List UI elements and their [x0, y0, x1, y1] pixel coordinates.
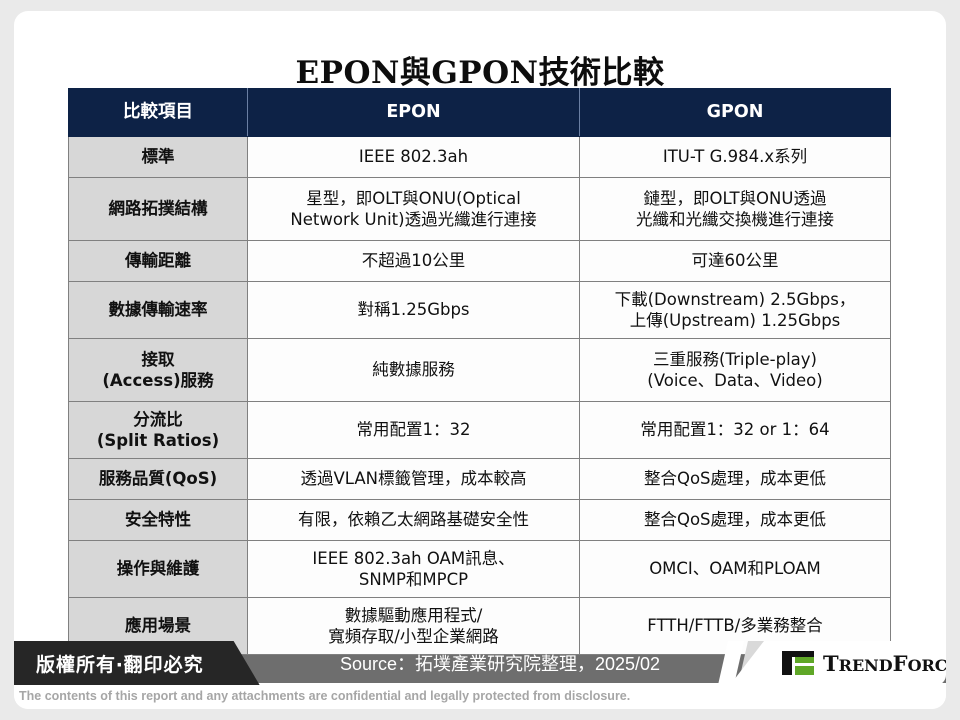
cell-gpon: 可達60公里 [580, 241, 891, 282]
table-row: 接取(Access)服務純數據服務三重服務(Triple-play)(Voice… [69, 339, 891, 402]
row-header-line: 操作與維護 [74, 558, 242, 579]
cell-line: 鏈型，即OLT與ONU透過 [585, 188, 885, 209]
cell-gpon: 下載(Downstream) 2.5Gbps，上傳(Upstream) 1.25… [580, 282, 891, 339]
table-header-row: 比較項目 EPON GPON [69, 89, 891, 137]
cell-line: 常用配置1：32 or 1：64 [585, 419, 885, 440]
copyright-banner: 版權所有‧翻印必究 [14, 641, 260, 685]
cell-gpon: OMCI、OAM和PLOAM [580, 541, 891, 598]
cell-line: 整合QoS處理，成本更低 [585, 468, 885, 489]
table-body: 標準IEEE 802.3ahITU-T G.984.x系列網路拓撲結構星型，即O… [69, 137, 891, 655]
cell-line: 純數據服務 [253, 359, 574, 380]
row-header-line: 接取 [74, 349, 242, 370]
row-header-line: 傳輸距離 [74, 250, 242, 271]
table-row: 安全特性有限，依賴乙太網路基礎安全性整合QoS處理，成本更低 [69, 500, 891, 541]
cell-line: 透過VLAN標籤管理，成本較高 [253, 468, 574, 489]
cell-line: 常用配置1：32 [253, 419, 574, 440]
cell-line: 星型，即OLT與ONU(Optical [253, 188, 574, 209]
cell-epon: 有限，依賴乙太網路基礎安全性 [248, 500, 580, 541]
column-header-gpon: GPON [580, 89, 891, 137]
cell-line: 整合QoS處理，成本更低 [585, 509, 885, 530]
table-row: 分流比(Split Ratios)常用配置1：32常用配置1：32 or 1：6… [69, 402, 891, 459]
cell-line: 三重服務(Triple-play) [585, 349, 885, 370]
page-title: EPON與GPON技術比較 [14, 47, 946, 92]
slide-canvas: 拓墣 TOPOLOGY RESEARCH INSTITUTE EPON與GPON… [14, 11, 946, 709]
cell-line: IEEE 802.3ah OAM訊息、 [253, 548, 574, 569]
table-row: 操作與維護IEEE 802.3ah OAM訊息、SNMP和MPCPOMCI、OA… [69, 541, 891, 598]
row-header-cell: 網路拓撲結構 [69, 178, 248, 241]
cell-gpon: ITU-T G.984.x系列 [580, 137, 891, 178]
row-header-line: (Split Ratios) [74, 430, 242, 451]
cell-line: SNMP和MPCP [253, 569, 574, 590]
cell-epon: IEEE 802.3ah OAM訊息、SNMP和MPCP [248, 541, 580, 598]
row-header-line: 數據傳輸速率 [74, 299, 242, 320]
trendforce-logo-mark-icon [782, 651, 814, 675]
cell-line: 對稱1.25Gbps [253, 299, 574, 320]
cell-gpon: 鏈型，即OLT與ONU透過光纖和光纖交換機進行連接 [580, 178, 891, 241]
logo-letters-orce: ORCE [908, 656, 946, 675]
trendforce-logo-text: TRENDFORCE [823, 651, 946, 676]
cell-gpon: 三重服務(Triple-play)(Voice、Data、Video) [580, 339, 891, 402]
cell-line: 下載(Downstream) 2.5Gbps， [585, 289, 885, 310]
cell-line: (Voice、Data、Video) [585, 370, 885, 391]
cell-epon: 常用配置1：32 [248, 402, 580, 459]
row-header-line: 標準 [74, 146, 242, 167]
cell-epon: 純數據服務 [248, 339, 580, 402]
copyright-banner-label: 版權所有‧翻印必究 [36, 650, 204, 677]
row-header-cell: 分流比(Split Ratios) [69, 402, 248, 459]
row-header-cell: 安全特性 [69, 500, 248, 541]
column-header-epon: EPON [248, 89, 580, 137]
cell-epon: 透過VLAN標籤管理，成本較高 [248, 459, 580, 500]
cell-line: Network Unit)透過光纖進行連接 [253, 209, 574, 230]
row-header-cell: 數據傳輸速率 [69, 282, 248, 339]
cell-epon: 不超過10公里 [248, 241, 580, 282]
cell-line: OMCI、OAM和PLOAM [585, 558, 885, 579]
cell-epon: 對稱1.25Gbps [248, 282, 580, 339]
cell-gpon: 常用配置1：32 or 1：64 [580, 402, 891, 459]
row-header-cell: 服務品質(QoS) [69, 459, 248, 500]
cell-line: 有限，依賴乙太網路基礎安全性 [253, 509, 574, 530]
table-row: 傳輸距離不超過10公里可達60公里 [69, 241, 891, 282]
row-header-cell: 標準 [69, 137, 248, 178]
row-header-line: 分流比 [74, 409, 242, 430]
comparison-table: 比較項目 EPON GPON 標準IEEE 802.3ahITU-T G.984… [68, 88, 891, 655]
table-row: 數據傳輸速率對稱1.25Gbps下載(Downstream) 2.5Gbps，上… [69, 282, 891, 339]
row-header-line: 網路拓撲結構 [74, 198, 242, 219]
table-header: 比較項目 EPON GPON [69, 89, 891, 137]
table-row: 標準IEEE 802.3ahITU-T G.984.x系列 [69, 137, 891, 178]
row-header-cell: 傳輸距離 [69, 241, 248, 282]
row-header-cell: 操作與維護 [69, 541, 248, 598]
cell-line: IEEE 802.3ah [253, 146, 574, 167]
column-header-criteria: 比較項目 [69, 89, 248, 137]
row-header-line: 應用場景 [74, 615, 242, 636]
logo-letter-t: T [823, 651, 839, 676]
trendforce-logo: TRENDFORCE [730, 641, 946, 685]
cell-gpon: 整合QoS處理，成本更低 [580, 500, 891, 541]
logo-letters-rend: REND [839, 656, 893, 675]
disclaimer-text: The contents of this report and any atta… [14, 683, 946, 709]
cell-gpon: 整合QoS處理，成本更低 [580, 459, 891, 500]
cell-epon: 星型，即OLT與ONU(OpticalNetwork Unit)透過光纖進行連接 [248, 178, 580, 241]
row-header-line: (Access)服務 [74, 370, 242, 391]
cell-line: 不超過10公里 [253, 250, 574, 271]
row-header-line: 安全特性 [74, 509, 242, 530]
cell-line: 可達60公里 [585, 250, 885, 271]
cell-line: 數據驅動應用程式/ [253, 605, 574, 626]
table-row: 服務品質(QoS)透過VLAN標籤管理，成本較高整合QoS處理，成本更低 [69, 459, 891, 500]
table-row: 網路拓撲結構星型，即OLT與ONU(OpticalNetwork Unit)透過… [69, 178, 891, 241]
cell-line: ITU-T G.984.x系列 [585, 146, 885, 167]
cell-epon: IEEE 802.3ah [248, 137, 580, 178]
row-header-line: 服務品質(QoS) [74, 468, 242, 489]
cell-line: 光纖和光纖交換機進行連接 [585, 209, 885, 230]
logo-letter-f: F [893, 651, 908, 676]
cell-line: 上傳(Upstream) 1.25Gbps [585, 310, 885, 331]
cell-line: FTTH/FTTB/多業務整合 [585, 615, 885, 636]
row-header-cell: 接取(Access)服務 [69, 339, 248, 402]
